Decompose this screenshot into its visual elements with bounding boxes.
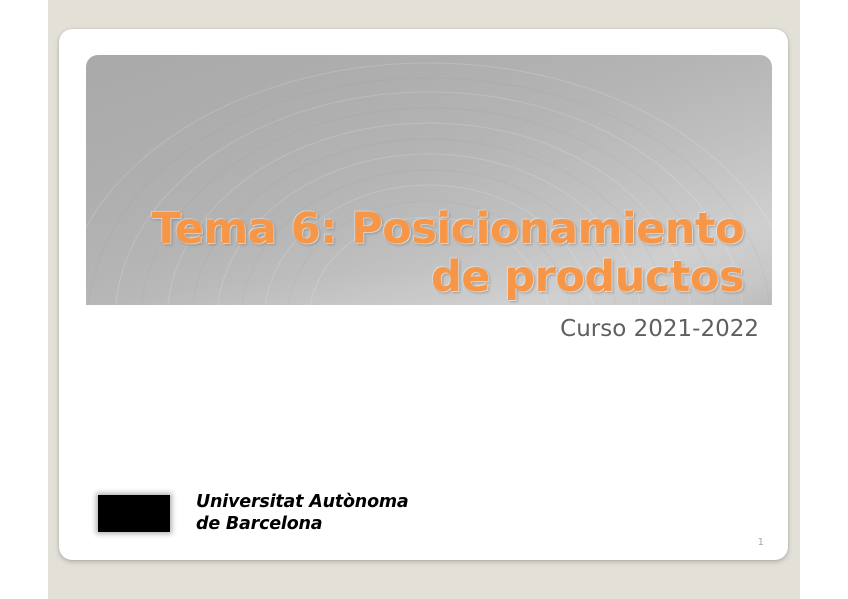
slide-title: Tema 6: Posicionamiento de productos	[104, 205, 744, 301]
page-number: 1	[758, 537, 764, 548]
slide-subtitle: Curso 2021-2022	[239, 316, 759, 342]
uab-logo-mark-icon	[98, 495, 170, 532]
page-backdrop: Tema 6: Posicionamiento de productos Cur…	[0, 0, 848, 599]
institution-logo: Universitat Autònoma de Barcelona	[98, 491, 409, 535]
institution-name: Universitat Autònoma de Barcelona	[196, 491, 409, 535]
slide-card: Tema 6: Posicionamiento de productos Cur…	[59, 29, 788, 560]
title-banner: Tema 6: Posicionamiento de productos	[86, 55, 772, 305]
